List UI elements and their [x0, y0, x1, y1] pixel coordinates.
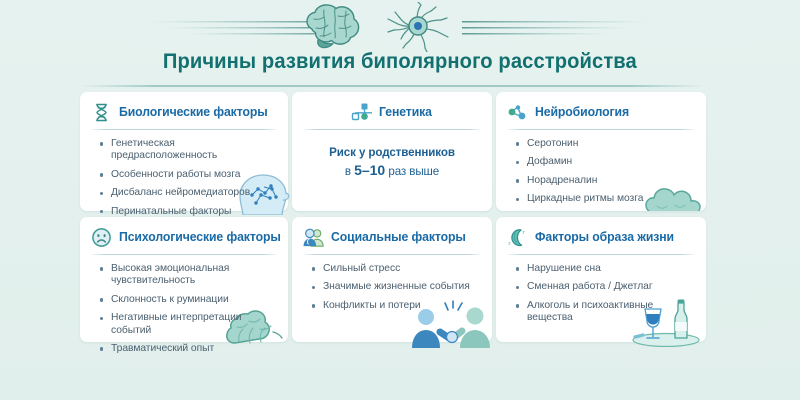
card-header: Генетика	[303, 101, 481, 123]
card-social-factors[interactable]: Социальные факторы Сильный стресс Значим…	[292, 217, 492, 342]
card-divider	[303, 129, 481, 130]
people-icon	[303, 227, 324, 248]
moon-icon: z z	[507, 227, 528, 248]
list-item: Норадреналин	[515, 175, 695, 187]
statement-prefix: в	[345, 165, 354, 178]
card-title: Нейробиология	[535, 105, 629, 119]
sad-face-icon	[91, 227, 112, 248]
card-header: z z Факторы образа жизни	[507, 226, 695, 248]
card-title: Социальные факторы	[331, 230, 466, 244]
factor-cards-grid: Биологические факторы Генетическая предр…	[80, 92, 706, 342]
list-item: Особенности работы мозга	[99, 169, 277, 181]
list-item: Нарушение сна	[515, 263, 695, 275]
card-divider	[507, 129, 695, 130]
statement-line-1: Риск у родственников	[303, 146, 481, 159]
list-item: Травматический опыт	[99, 343, 277, 355]
list-item: Склонность к руминации	[99, 294, 277, 306]
speed-lines-right-decoration	[462, 16, 647, 40]
list-item: Циркадные ритмы мозга	[515, 193, 695, 205]
molecule-icon	[507, 102, 528, 123]
list-item: Алкоголь и психоактивные вещества	[515, 300, 695, 325]
card-title: Генетика	[379, 105, 432, 119]
list-item: Серотонин	[515, 138, 695, 150]
list-item: Генетическая предрасположенность	[99, 138, 277, 163]
bullet-list: Генетическая предрасположенность Особенн…	[91, 138, 277, 218]
page-title-wrap: Причины развития биполярного расстройств…	[0, 50, 800, 74]
hero-icons	[300, 2, 462, 52]
card-header: Биологические факторы	[91, 101, 277, 123]
bullet-list: Серотонин Дофамин Норадреналин Циркадные…	[507, 138, 695, 206]
list-item: Дисбаланс нейромедиаторов	[99, 187, 277, 199]
header-divider	[80, 85, 705, 87]
card-divider	[507, 254, 695, 255]
list-item: Перинатальные факторы	[99, 206, 277, 218]
infographic-canvas: Причины развития биполярного расстройств…	[0, 0, 800, 400]
brain-icon	[307, 5, 359, 48]
list-item: Значимые жизненные события	[311, 281, 481, 293]
sleep-z-small: z	[523, 229, 526, 234]
card-lifestyle-factors[interactable]: z z Факторы образа жизни Нарушение сна С…	[496, 217, 706, 342]
statement-suffix: раз выше	[385, 165, 439, 178]
bullet-list: Высокая эмоциональная чувствительность С…	[91, 263, 277, 355]
page-title: Причины развития биполярного расстройств…	[163, 50, 637, 74]
card-divider	[303, 254, 481, 255]
statement-value: 5–10	[354, 162, 385, 178]
card-header: Социальные факторы	[303, 226, 481, 248]
bullet-list: Сильный стресс Значимые жизненные событи…	[303, 263, 481, 312]
card-title: Биологические факторы	[119, 105, 268, 119]
list-item: Дофамин	[515, 156, 695, 168]
card-title: Психологические факторы	[119, 230, 281, 244]
list-item: Сменная работа / Джетлаг	[515, 281, 695, 293]
card-neurobiology[interactable]: Нейробиология Серотонин Дофамин Норадрен…	[496, 92, 706, 211]
bullet-list: Нарушение сна Сменная работа / Джетлаг А…	[507, 263, 695, 325]
list-item: Конфликты и потери	[311, 300, 481, 312]
card-genetics[interactable]: Генетика Риск у родственников в 5–10 раз…	[292, 92, 492, 211]
list-item: Сильный стресс	[311, 263, 481, 275]
family-tree-icon	[351, 102, 372, 123]
list-item: Высокая эмоциональная чувствительность	[99, 263, 277, 288]
card-header: Нейробиология	[507, 101, 695, 123]
sleep-z-tiny: z	[508, 240, 511, 245]
card-divider	[91, 129, 277, 130]
genetics-statement: Риск у родственников в 5–10 раз выше	[303, 146, 481, 178]
statement-line-2: в 5–10 раз выше	[303, 162, 481, 178]
card-title: Факторы образа жизни	[535, 230, 674, 244]
neuron-icon	[388, 2, 448, 52]
card-psychological-factors[interactable]: Психологические факторы Высокая эмоциона…	[80, 217, 288, 342]
dna-icon	[91, 102, 112, 123]
card-header: Психологические факторы	[91, 226, 277, 248]
card-biological-factors[interactable]: Биологические факторы Генетическая предр…	[80, 92, 288, 211]
list-item: Негативные интерпретации событий	[99, 312, 277, 337]
card-divider	[91, 254, 277, 255]
header: Причины развития биполярного расстройств…	[0, 0, 800, 88]
